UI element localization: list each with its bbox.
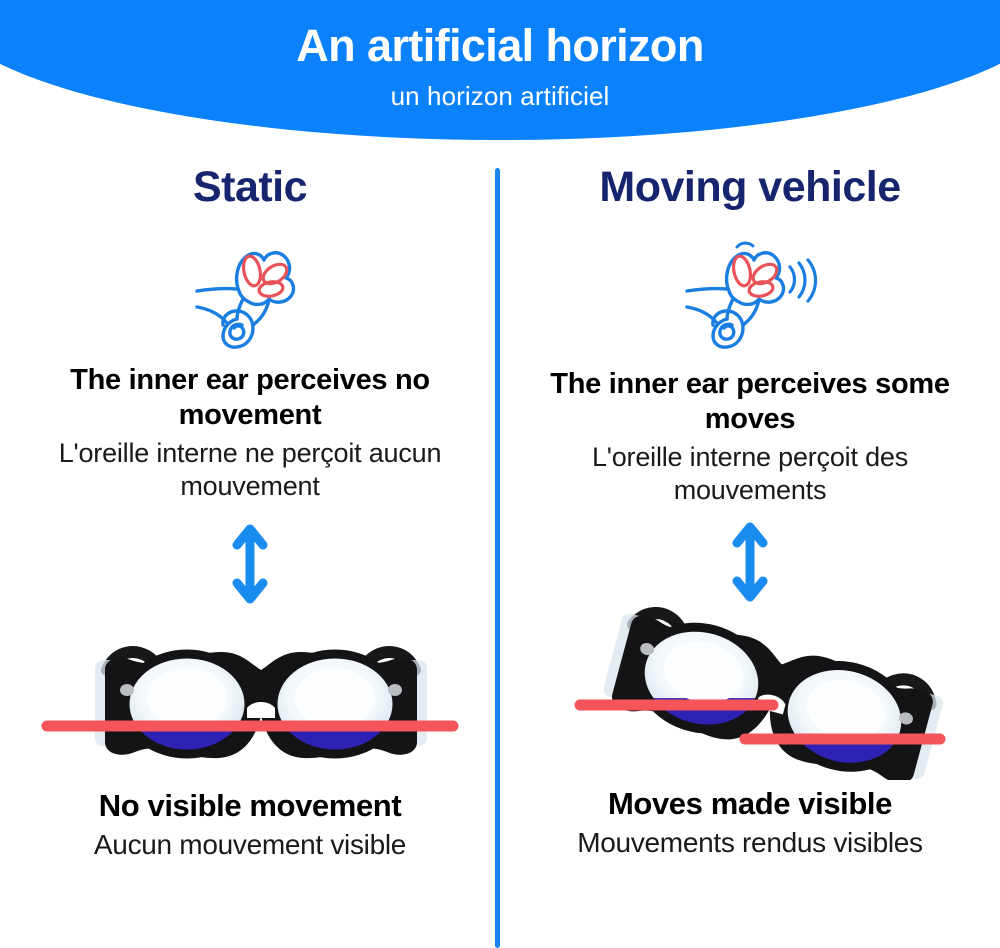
glasses-nose-bridge	[247, 702, 275, 718]
conclusion-fr-static: Aucun mouvement visible	[10, 828, 490, 862]
column-moving-vehicle: Moving vehicle	[500, 150, 1000, 948]
column-title-static: Static	[193, 150, 307, 209]
boarding-ring-glasses-icon	[525, 605, 975, 780]
conclusion-block-static: No visible movement Aucun mouvement visi…	[10, 788, 490, 862]
column-divider	[495, 168, 500, 948]
boarding-ring-glasses-icon	[35, 612, 465, 777]
conclusion-en-static: No visible movement	[10, 788, 490, 825]
column-static: Static	[0, 150, 500, 948]
statement-en-static: The inner ear perceives no movement	[15, 363, 485, 434]
arrow-wrap-moving	[727, 516, 773, 608]
inner-ear-icon	[185, 229, 315, 349]
comparison-columns: Static	[0, 150, 1000, 948]
double-arrow-vertical-icon	[727, 519, 773, 605]
inner-ear-icon	[675, 229, 825, 349]
conclusion-en-moving: Moves made visible	[510, 786, 990, 823]
glasses-tilted-group	[588, 605, 947, 780]
arrow-wrap-static	[227, 518, 273, 610]
header-banner	[0, 0, 1000, 140]
inner-ear-icon-wrap-moving	[675, 229, 825, 349]
motion-arcs-icon	[790, 260, 816, 301]
double-arrow-vertical-icon	[227, 521, 273, 607]
conclusion-block-moving: Moves made visible Mouvements rendus vis…	[510, 786, 990, 860]
statement-en-moving: The inner ear perceives some moves	[515, 367, 985, 438]
statement-fr-static: L'oreille interne ne perçoit aucun mouve…	[15, 437, 485, 504]
statement-block-moving: The inner ear perceives some moves L'ore…	[515, 367, 985, 508]
inner-ear-icon-wrap-static	[185, 229, 315, 349]
statement-block-static: The inner ear perceives no movement L'or…	[15, 363, 485, 504]
glasses-wrap-static	[20, 610, 480, 780]
conclusion-fr-moving: Mouvements rendus visibles	[510, 826, 990, 860]
glasses-wrap-moving	[520, 608, 980, 778]
column-title-moving: Moving vehicle	[599, 150, 900, 209]
statement-fr-moving: L'oreille interne perçoit des mouvements	[515, 441, 985, 508]
